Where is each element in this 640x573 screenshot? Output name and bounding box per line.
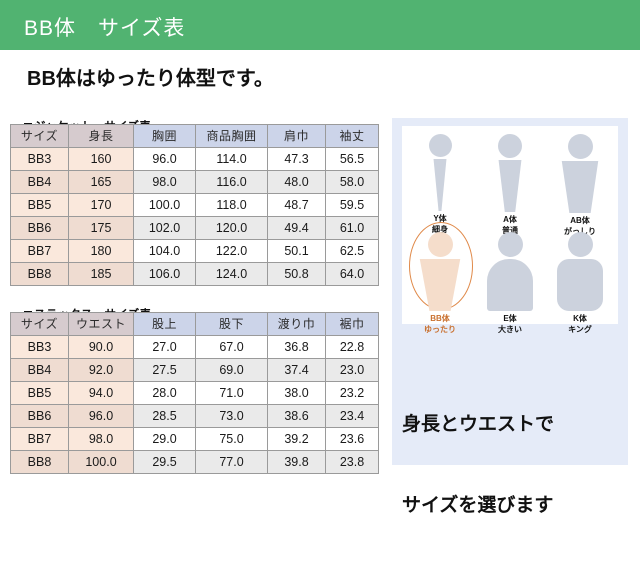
- column-header: 身長: [69, 125, 134, 148]
- figure-caption-desc: 大きい: [476, 325, 544, 336]
- figure-head-icon: [429, 134, 452, 157]
- cell-hem: 22.8: [326, 336, 379, 359]
- body-type-figure-y: Y体 細身: [406, 134, 474, 235]
- slacks-size-table: サイズ ウエスト 股上 股下 渡り巾 裾巾 BB3 90.0 27.0 67.0…: [10, 312, 379, 474]
- cell-thigh: 37.4: [268, 359, 326, 382]
- cell-thigh: 36.8: [268, 336, 326, 359]
- cell-waist: 98.0: [69, 428, 134, 451]
- cell-waist: 92.0: [69, 359, 134, 382]
- figure-caption-desc: ゆったり: [406, 325, 474, 336]
- table-row: BB7 98.0 29.0 75.0 39.2 23.6: [11, 428, 379, 451]
- selection-instruction-line2: サイズを選びます: [402, 492, 626, 519]
- figure-head-icon: [428, 232, 453, 257]
- cell-chest: 98.0: [134, 171, 196, 194]
- column-header: 裾巾: [326, 313, 379, 336]
- cell-product-chest: 124.0: [196, 263, 268, 286]
- column-header: サイズ: [11, 313, 69, 336]
- figure-head-icon: [568, 232, 593, 257]
- column-header: 肩巾: [268, 125, 326, 148]
- cell-rise: 27.0: [134, 336, 196, 359]
- cell-thigh: 38.0: [268, 382, 326, 405]
- body-type-diagram-card: Y体 細身 A体 普通 AB体 がっしり BB体 ゆったり E体 大きい: [402, 126, 618, 324]
- figure-body-icon: [557, 259, 603, 311]
- column-header: 胸囲: [134, 125, 196, 148]
- cell-inseam: 67.0: [196, 336, 268, 359]
- column-header: 袖丈: [326, 125, 379, 148]
- cell-size: BB8: [11, 451, 69, 474]
- figure-caption-desc: キング: [546, 325, 614, 336]
- cell-sleeve: 62.5: [326, 240, 379, 263]
- cell-thigh: 39.2: [268, 428, 326, 451]
- cell-product-chest: 120.0: [196, 217, 268, 240]
- table-row: BB8 185 106.0 124.0 50.8 64.0: [11, 263, 379, 286]
- cell-shoulder: 50.1: [268, 240, 326, 263]
- cell-hem: 23.2: [326, 382, 379, 405]
- cell-product-chest: 116.0: [196, 171, 268, 194]
- cell-thigh: 39.8: [268, 451, 326, 474]
- cell-height: 170: [69, 194, 134, 217]
- cell-shoulder: 48.0: [268, 171, 326, 194]
- cell-hem: 23.8: [326, 451, 379, 474]
- table-row: BB3 90.0 27.0 67.0 36.8 22.8: [11, 336, 379, 359]
- cell-waist: 94.0: [69, 382, 134, 405]
- table-row: BB7 180 104.0 122.0 50.1 62.5: [11, 240, 379, 263]
- column-header: 商品胸囲: [196, 125, 268, 148]
- cell-hem: 23.4: [326, 405, 379, 428]
- cell-rise: 28.5: [134, 405, 196, 428]
- cell-chest: 102.0: [134, 217, 196, 240]
- cell-shoulder: 47.3: [268, 148, 326, 171]
- figure-body-icon: [561, 161, 599, 213]
- cell-size: BB6: [11, 405, 69, 428]
- cell-size: BB7: [11, 240, 69, 263]
- cell-size: BB3: [11, 148, 69, 171]
- cell-waist: 100.0: [69, 451, 134, 474]
- cell-size: BB6: [11, 217, 69, 240]
- cell-chest: 96.0: [134, 148, 196, 171]
- table-row: BB6 175 102.0 120.0 49.4 61.0: [11, 217, 379, 240]
- cell-rise: 29.5: [134, 451, 196, 474]
- cell-size: BB5: [11, 382, 69, 405]
- table-header-row: サイズ ウエスト 股上 股下 渡り巾 裾巾: [11, 313, 379, 336]
- cell-product-chest: 118.0: [196, 194, 268, 217]
- selection-instruction: 身長とウエストで サイズを選びます: [402, 357, 626, 573]
- cell-inseam: 71.0: [196, 382, 268, 405]
- body-type-figure-bb: BB体 ゆったり: [406, 232, 474, 335]
- cell-shoulder: 50.8: [268, 263, 326, 286]
- cell-sleeve: 59.5: [326, 194, 379, 217]
- cell-height: 180: [69, 240, 134, 263]
- table-row: BB8 100.0 29.5 77.0 39.8 23.8: [11, 451, 379, 474]
- cell-chest: 106.0: [134, 263, 196, 286]
- column-header: 股上: [134, 313, 196, 336]
- cell-size: BB3: [11, 336, 69, 359]
- table-row: BB5 94.0 28.0 71.0 38.0 23.2: [11, 382, 379, 405]
- cell-shoulder: 48.7: [268, 194, 326, 217]
- table-header-row: サイズ 身長 胸囲 商品胸囲 肩巾 袖丈: [11, 125, 379, 148]
- cell-inseam: 73.0: [196, 405, 268, 428]
- cell-height: 160: [69, 148, 134, 171]
- figure-body-icon: [418, 259, 462, 311]
- cell-shoulder: 49.4: [268, 217, 326, 240]
- cell-size: BB7: [11, 428, 69, 451]
- cell-sleeve: 58.0: [326, 171, 379, 194]
- cell-sleeve: 56.5: [326, 148, 379, 171]
- figure-caption-code: E体: [476, 314, 544, 325]
- column-header: ウエスト: [69, 313, 134, 336]
- figure-caption-code: Y体: [406, 214, 474, 225]
- cell-size: BB8: [11, 263, 69, 286]
- cell-size: BB4: [11, 171, 69, 194]
- cell-height: 185: [69, 263, 134, 286]
- table-row: BB5 170 100.0 118.0 48.7 59.5: [11, 194, 379, 217]
- cell-hem: 23.6: [326, 428, 379, 451]
- cell-rise: 29.0: [134, 428, 196, 451]
- figure-body-icon: [431, 159, 449, 211]
- figure-caption-code: A体: [476, 215, 544, 226]
- cell-waist: 90.0: [69, 336, 134, 359]
- cell-size: BB4: [11, 359, 69, 382]
- column-header: サイズ: [11, 125, 69, 148]
- cell-inseam: 75.0: [196, 428, 268, 451]
- cell-rise: 27.5: [134, 359, 196, 382]
- body-type-figure-e: E体 大きい: [476, 232, 544, 335]
- cell-inseam: 77.0: [196, 451, 268, 474]
- cell-hem: 23.0: [326, 359, 379, 382]
- table-row: BB4 165 98.0 116.0 48.0 58.0: [11, 171, 379, 194]
- cell-sleeve: 61.0: [326, 217, 379, 240]
- body-type-figure-a: A体 普通: [476, 134, 544, 236]
- column-header: 股下: [196, 313, 268, 336]
- table-row: BB6 96.0 28.5 73.0 38.6 23.4: [11, 405, 379, 428]
- page-title: BB体 サイズ表: [24, 12, 185, 42]
- page-header-bar: BB体 サイズ表: [0, 0, 640, 50]
- cell-height: 175: [69, 217, 134, 240]
- table-row: BB3 160 96.0 114.0 47.3 56.5: [11, 148, 379, 171]
- body-type-figure-k: K体 キング: [546, 232, 614, 335]
- cell-product-chest: 114.0: [196, 148, 268, 171]
- jacket-size-table: サイズ 身長 胸囲 商品胸囲 肩巾 袖丈 BB3 160 96.0 114.0 …: [10, 124, 379, 286]
- cell-size: BB5: [11, 194, 69, 217]
- figure-caption-code: BB体: [406, 314, 474, 325]
- body-type-figure-ab: AB体 がっしり: [546, 134, 614, 237]
- column-header: 渡り巾: [268, 313, 326, 336]
- cell-product-chest: 122.0: [196, 240, 268, 263]
- cell-chest: 104.0: [134, 240, 196, 263]
- figure-head-icon: [498, 134, 522, 158]
- figure-caption-code: K体: [546, 314, 614, 325]
- cell-chest: 100.0: [134, 194, 196, 217]
- size-chart-page: BB体 サイズ表 BB体はゆったり体型です。 ジャケット サイズ表 サイズ 身長…: [0, 0, 640, 480]
- table-row: BB4 92.0 27.5 69.0 37.4 23.0: [11, 359, 379, 382]
- cell-waist: 96.0: [69, 405, 134, 428]
- cell-rise: 28.0: [134, 382, 196, 405]
- figure-caption-code: AB体: [546, 216, 614, 227]
- selection-instruction-line1: 身長とウエストで: [402, 411, 626, 438]
- figure-head-icon: [568, 134, 593, 159]
- cell-sleeve: 64.0: [326, 263, 379, 286]
- cell-inseam: 69.0: [196, 359, 268, 382]
- lead-statement: BB体はゆったり体型です。: [27, 62, 274, 91]
- cell-thigh: 38.6: [268, 405, 326, 428]
- cell-height: 165: [69, 171, 134, 194]
- figure-body-icon: [487, 259, 533, 311]
- figure-body-icon: [497, 160, 523, 212]
- figure-head-icon: [498, 232, 523, 257]
